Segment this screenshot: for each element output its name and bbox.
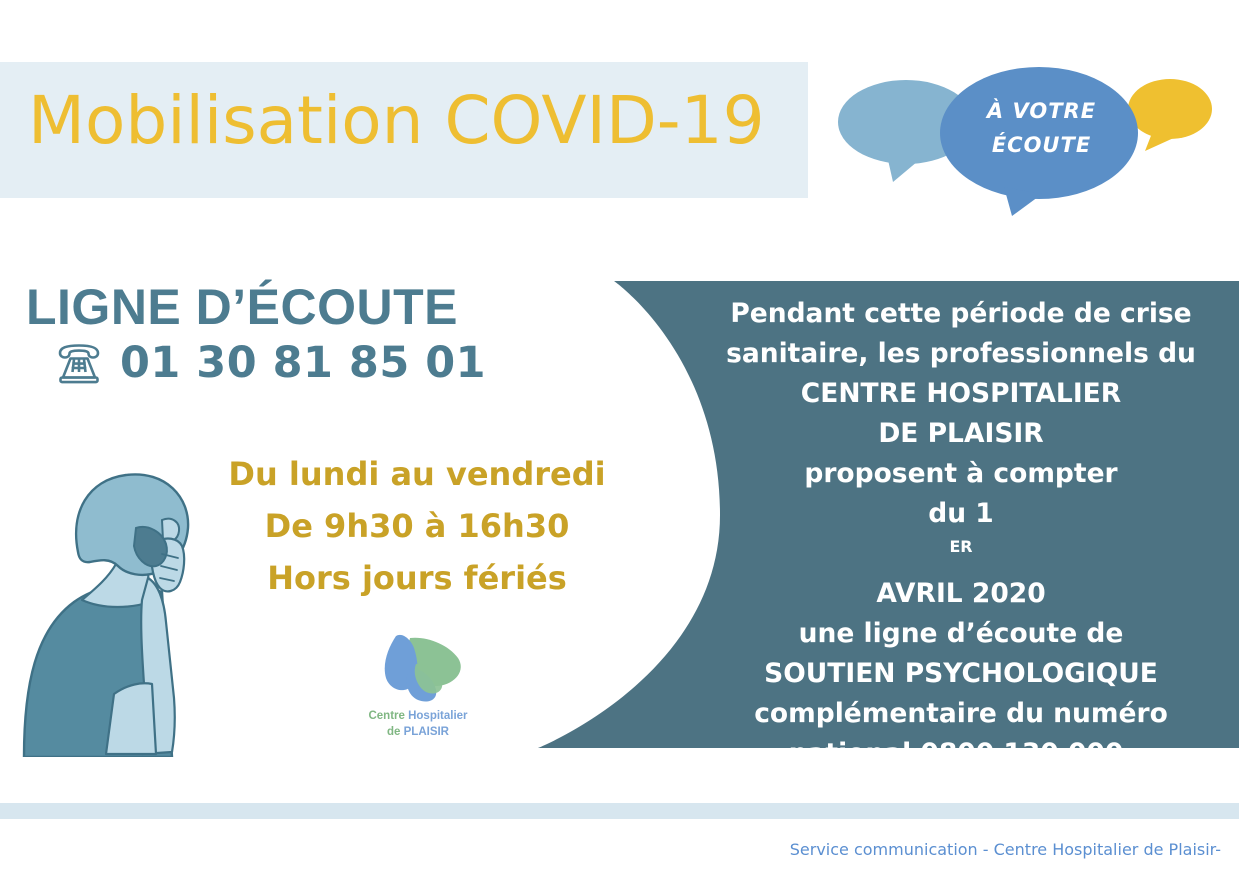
info-panel: Pendant cette période de crise sanitaire… bbox=[530, 275, 1239, 755]
panel-line-6: une ligne d’écoute de bbox=[708, 614, 1214, 654]
hotline-heading: LIGNE D’ÉCOUTE bbox=[26, 278, 458, 336]
panel-line-9: national 0800 130 000. bbox=[708, 734, 1214, 774]
bubble-text-line-1: À VOTRE bbox=[954, 94, 1129, 128]
hospital-logo: Centre Hospitalier de PLAISIR bbox=[350, 630, 486, 748]
panel-line-1: Pendant cette période de crise bbox=[708, 294, 1214, 334]
logo-text-plaisir: PLAISIR bbox=[404, 726, 449, 738]
butterfly-icon bbox=[370, 630, 466, 704]
hotline-phone-row: 01 30 81 85 01 bbox=[52, 338, 486, 388]
hotline-phone-number[interactable]: 01 30 81 85 01 bbox=[120, 338, 486, 388]
poster-canvas: Mobilisation COVID-19 À VOTRE ÉCOUTE bbox=[0, 0, 1239, 875]
panel-line-8: complémentaire du numéro bbox=[708, 694, 1214, 734]
panel-date-line: du 1ER AVRIL 2020 bbox=[708, 494, 1214, 614]
bubble-text: À VOTRE ÉCOUTE bbox=[954, 94, 1129, 162]
panel-date-suffix: AVRIL 2020 bbox=[708, 574, 1214, 614]
bubble-yellow-icon bbox=[1128, 79, 1212, 151]
logo-text-hospitalier: Hospitalier bbox=[408, 710, 467, 722]
page-title: Mobilisation COVID-19 bbox=[28, 82, 765, 159]
panel-date-prefix: du 1 bbox=[708, 494, 1214, 534]
panel-line-3: CENTRE HOSPITALIER bbox=[708, 374, 1214, 414]
logo-text-de: de bbox=[387, 726, 404, 738]
panel-line-7: SOUTIEN PSYCHOLOGIQUE bbox=[708, 654, 1214, 694]
logo-text: Centre Hospitalier de PLAISIR bbox=[350, 708, 486, 740]
bottom-divider-bar bbox=[0, 803, 1239, 819]
logo-text-centre: Centre bbox=[368, 710, 408, 722]
telephone-icon bbox=[52, 341, 106, 385]
panel-date-superscript: ER bbox=[949, 537, 972, 556]
panel-line-5: proposent à compter bbox=[708, 454, 1214, 494]
info-panel-text: Pendant cette période de crise sanitaire… bbox=[708, 294, 1214, 774]
speech-bubbles-group: À VOTRE ÉCOUTE bbox=[836, 56, 1239, 216]
bubble-text-line-2: ÉCOUTE bbox=[954, 128, 1129, 162]
panel-line-2: sanitaire, les professionnels du bbox=[708, 334, 1214, 374]
person-on-phone-illustration bbox=[22, 432, 237, 757]
panel-line-4: DE PLAISIR bbox=[708, 414, 1214, 454]
footer-credit: Service communication - Centre Hospitali… bbox=[790, 840, 1221, 859]
person-on-phone-icon bbox=[22, 432, 237, 757]
